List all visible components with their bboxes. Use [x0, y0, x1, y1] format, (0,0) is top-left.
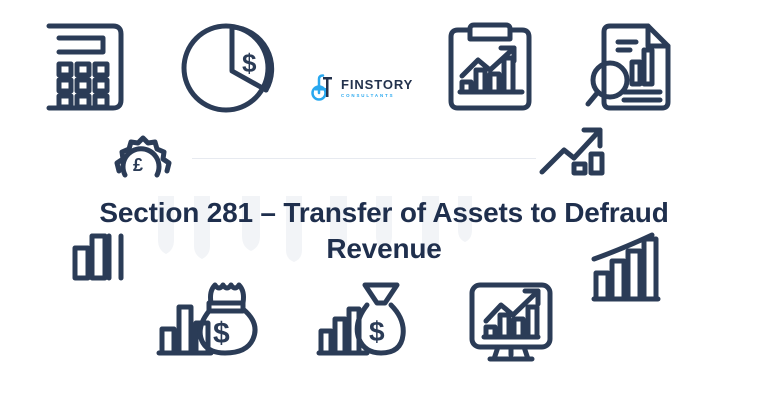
growth-arrow-icon	[540, 124, 606, 176]
svg-text:$: $	[369, 316, 385, 347]
pie-chart-dollar-icon: $	[180, 22, 276, 114]
monitor-chart-icon	[468, 283, 554, 365]
logo-tagline: CONSULTANTS	[341, 94, 413, 98]
clipboard-chart-icon	[446, 20, 534, 112]
finstory-logo: FINSTORY CONSULTANTS	[311, 68, 407, 108]
moneybag-bars-icon: $	[317, 281, 401, 361]
trend-bars-icon	[592, 233, 662, 305]
logo-text-block: FINSTORY CONSULTANTS	[341, 78, 413, 98]
bars-moneybag-icon: $	[157, 281, 249, 361]
banner-card: FINSTORY CONSULTANTS Section 281 – Trans…	[0, 0, 768, 402]
divider	[192, 158, 536, 159]
gear-currency-icon: £	[113, 131, 169, 183]
finstory-logo-mark-icon	[311, 73, 335, 103]
svg-text:$: $	[242, 48, 257, 78]
svg-text:$: $	[213, 317, 230, 350]
calculator-icon	[63, 22, 125, 112]
bar-chart-outline-icon	[73, 234, 127, 280]
document-search-icon	[588, 18, 680, 114]
svg-text:£: £	[133, 155, 143, 175]
logo-wordmark: FINSTORY	[341, 78, 413, 91]
